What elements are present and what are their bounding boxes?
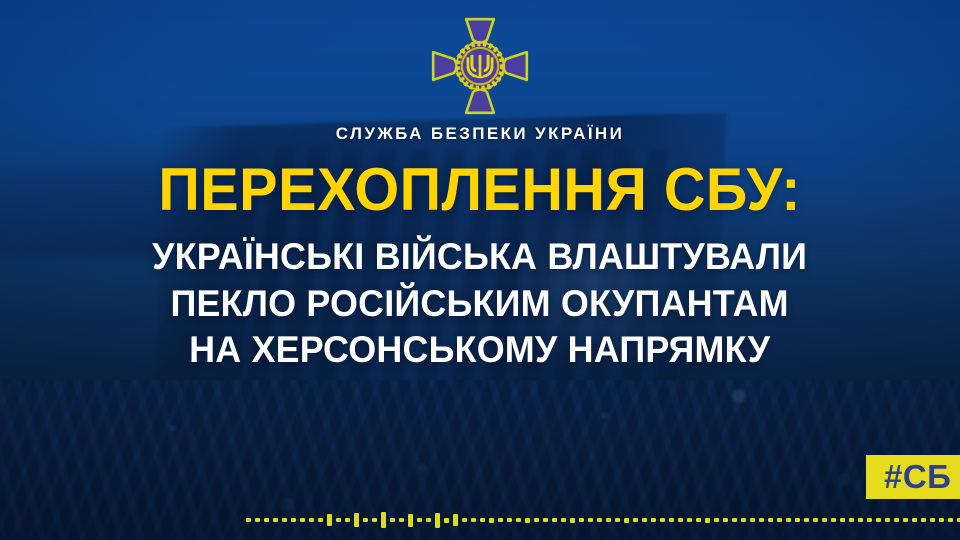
waveform-bar [462,518,467,522]
waveform-bar [894,518,899,522]
waveform-bar [246,518,251,522]
subtitle-line-3: НА ХЕРСОНСЬКОМУ НАПРЯМКУ [152,327,807,374]
waveform-bar [921,518,926,522]
waveform-bar [345,518,350,522]
waveform-bar [588,518,593,522]
waveform-bar [597,518,602,522]
waveform-bar [678,518,683,522]
waveform-bar [786,518,791,522]
waveform-bar [534,518,539,522]
audio-waveform [246,508,736,532]
waveform-bar [381,512,386,528]
poster-content: СЛУЖБА БЕЗПЕКИ УКРАЇНИ ПЕРЕХОПЛЕННЯ СБУ:… [0,0,960,540]
waveform-bar [417,518,422,522]
waveform-bar [453,514,458,526]
waveform-bar [624,518,629,523]
waveform-bar [579,518,584,522]
waveform-bar [507,518,512,522]
waveform-bar [552,518,557,522]
waveform-bar [291,518,296,522]
waveform-bar [714,518,719,522]
waveform-bar [804,518,809,522]
subtitle: УКРАЇНСЬКІ ВІЙСЬКА ВЛАШТУВАЛИ ПЕКЛО РОСІ… [152,234,807,374]
waveform-bar [273,518,278,522]
waveform-bar [327,514,332,526]
waveform-bar [795,518,800,522]
waveform-bar [354,513,359,527]
waveform-bar [309,518,314,522]
waveform-bar [471,518,476,522]
waveform-bar [300,518,305,522]
waveform-bar [372,518,377,522]
waveform-bar [858,518,863,522]
waveform-bar [489,518,494,523]
waveform-bar [705,518,710,523]
waveform-bar [390,518,395,522]
waveform-bar [885,518,890,522]
waveform-bar [822,518,827,522]
waveform-bar [903,518,908,522]
hashtag-badge: #СБ [866,455,960,499]
waveform-bar [768,518,773,522]
organization-name: СЛУЖБА БЕЗПЕКИ УКРАЇНИ [336,124,624,144]
waveform-bar [561,518,566,522]
waveform-bar [282,518,287,522]
waveform-bar [435,513,440,528]
waveform-bar [939,518,944,522]
waveform-bar [813,518,818,522]
waveform-bar [723,518,728,522]
waveform-bar [642,518,647,522]
headline: ПЕРЕХОПЛЕННЯ СБУ: [159,160,802,220]
waveform-bar [741,518,746,522]
waveform-bar [543,518,548,522]
waveform-bar [633,518,638,522]
waveform-bar [516,518,521,522]
waveform-bar [696,518,701,522]
waveform-bar [759,518,764,522]
waveform-bar [750,518,755,522]
waveform-bar [444,518,449,523]
subtitle-line-1: УКРАЇНСЬКІ ВІЙСЬКА ВЛАШТУВАЛИ [152,234,807,281]
waveform-bar [732,518,737,522]
waveform-bar [615,518,620,522]
sbu-emblem-icon [428,14,532,118]
waveform-bar [264,518,269,522]
sbu-announcement-poster: СЛУЖБА БЕЗПЕКИ УКРАЇНИ ПЕРЕХОПЛЕННЯ СБУ:… [0,0,960,540]
subtitle-line-2: ПЕКЛО РОСІЙСЬКИМ ОКУПАНТАМ [152,281,807,328]
waveform-bar [651,518,656,522]
waveform-bar [669,518,674,522]
waveform-bar [867,518,872,522]
waveform-bar [930,518,935,522]
waveform-bar [840,518,845,522]
waveform-bar [399,518,404,522]
waveform-bar [849,518,854,522]
waveform-bar [660,518,665,522]
waveform-bar [831,518,836,522]
waveform-bar [948,518,953,522]
waveform-bar [498,518,503,522]
waveform-bar [255,518,260,522]
waveform-bar [912,518,917,522]
waveform-bar [336,518,341,522]
waveform-bar [525,518,530,523]
waveform-bar [318,518,323,522]
waveform-bar [570,518,575,523]
waveform-bar [408,514,413,527]
waveform-bar [426,518,431,522]
waveform-bar [687,518,692,522]
waveform-bar [777,518,782,522]
waveform-bar [876,518,881,522]
waveform-bar [363,518,368,522]
waveform-bar [480,518,485,522]
waveform-bar [606,518,611,522]
